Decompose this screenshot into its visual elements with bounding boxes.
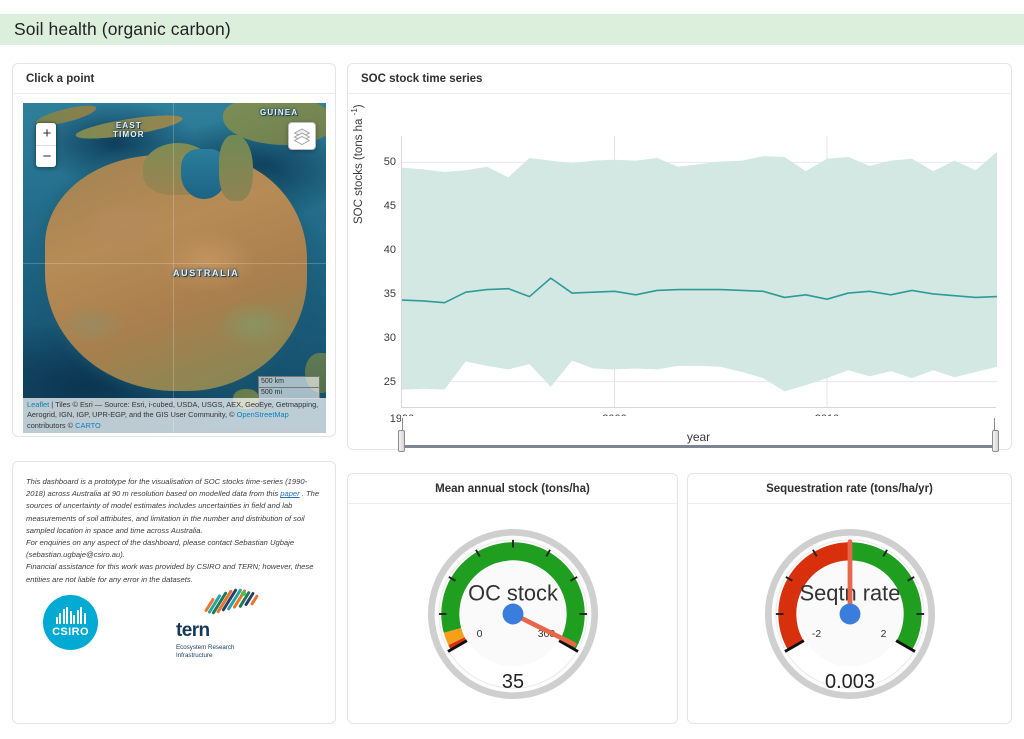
description-part-a: This dashboard is a prototype for the vi… [26,477,307,498]
sequestration-rate-panel: Sequestration rate (tons/ha/yr) Seqtn ra… [687,473,1012,724]
oc-stock-gauge: OC stock030035 [418,519,608,709]
tern-tasmania-dot [241,591,246,596]
zoom-in-button[interactable]: + [36,123,57,145]
gauge1-title: Mean annual stock (tons/ha) [348,474,677,504]
tern-map-icon [202,585,264,619]
gauge-min-label: 0 [476,629,482,640]
chart-panel-title: SOC stock time series [348,64,1011,94]
map-scale-bar: 500 km 500 mi [258,376,320,399]
app-header: Soil health (organic carbon) [0,14,1024,45]
map-panel: Click a point AUSTRALIA EAST TIMOR GUINE… [12,63,336,437]
map-label-guinea: GUINEA [260,108,298,117]
gauge2-title: Sequestration rate (tons/ha/yr) [688,474,1011,504]
paper-link[interactable]: paper [280,489,299,498]
csiro-logo-text: CSIRO [52,626,89,638]
dashboard-description: This dashboard is a prototype for the vi… [13,462,335,586]
tern-tagline: Ecosystem Research Infrastructure [176,644,272,659]
info-panel-body: This dashboard is a prototype for the vi… [13,462,335,586]
seqtn-rate-gauge: Seqtn rate-220.003 [755,519,945,709]
layers-icon[interactable] [288,122,316,150]
tern-logo-text: tern [176,620,272,642]
chart-y-tick: 25 [384,376,396,388]
description-paragraph-2: For enquiries on any aspect of the dashb… [26,537,323,561]
chart-y-tick: 45 [384,200,396,212]
chart-panel-body: SOC stocks (tons ha -1) 2530354045501990… [348,94,1011,449]
layers-icon-glyph [293,127,311,145]
info-panel: This dashboard is a prototype for the vi… [12,461,336,724]
map-label-australia: AUSTRALIA [173,269,239,278]
attribution-carto-link[interactable]: CARTO [75,421,101,430]
partner-logos: CSIRO [13,587,335,657]
gauge-value-label: 0.003 [825,671,875,693]
page-title: Soil health (organic carbon) [14,19,231,40]
chart-y-tick: 35 [384,288,396,300]
leaflet-map[interactable]: AUSTRALIA EAST TIMOR GUINEA + − 500 km [23,103,326,433]
description-paragraph-1: This dashboard is a prototype for the vi… [26,476,323,537]
chart-y-tick: 40 [384,244,396,256]
zoom-out-button[interactable]: − [36,145,57,167]
map-label-east-timor: EAST TIMOR [113,121,145,139]
tern-logo: tern Ecosystem Research Infrastructure [176,585,272,659]
gauge2-body: Seqtn rate-220.003 [688,504,1011,723]
chart-x-axis-label: year [401,430,996,444]
map-attribution: Leaflet | Tiles © Esri — Source: Esri, i… [23,398,326,434]
chart-y-tick: 30 [384,332,396,344]
chart-x-axis-line [402,407,996,408]
range-slider-track[interactable] [401,445,996,448]
chart-y-tick: 50 [384,156,396,168]
attribution-osm-link[interactable]: OpenStreetMap [237,410,289,419]
gauge1-body: OC stock030035 [348,504,677,723]
chart-plot-area[interactable]: 253035404550199020002010 [401,136,996,408]
gauge-min-label: -2 [811,629,820,640]
description-paragraph-3: Financial assistance for this work was p… [26,561,323,585]
chart-y-axis-label: SOC stocks (tons ha -1) [350,104,365,224]
attribution-mid: contributors © [27,421,75,430]
scale-metric: 500 km [258,376,320,387]
gauge-max-label: 2 [880,629,886,640]
gauge-dial-label: OC stock [468,580,558,605]
soc-timeseries-svg[interactable] [402,136,997,408]
csiro-mark-icon [56,607,86,624]
attribution-leaflet-link[interactable]: Leaflet [27,400,49,409]
chart-panel: SOC stock time series SOC stocks (tons h… [347,63,1012,450]
gauge-value-label: 35 [501,671,523,693]
map-panel-title: Click a point [13,64,335,94]
csiro-logo: CSIRO [43,595,98,650]
mean-annual-stock-panel: Mean annual stock (tons/ha) OC stock0300… [347,473,678,724]
map-zoom-control[interactable]: + − [35,122,57,168]
